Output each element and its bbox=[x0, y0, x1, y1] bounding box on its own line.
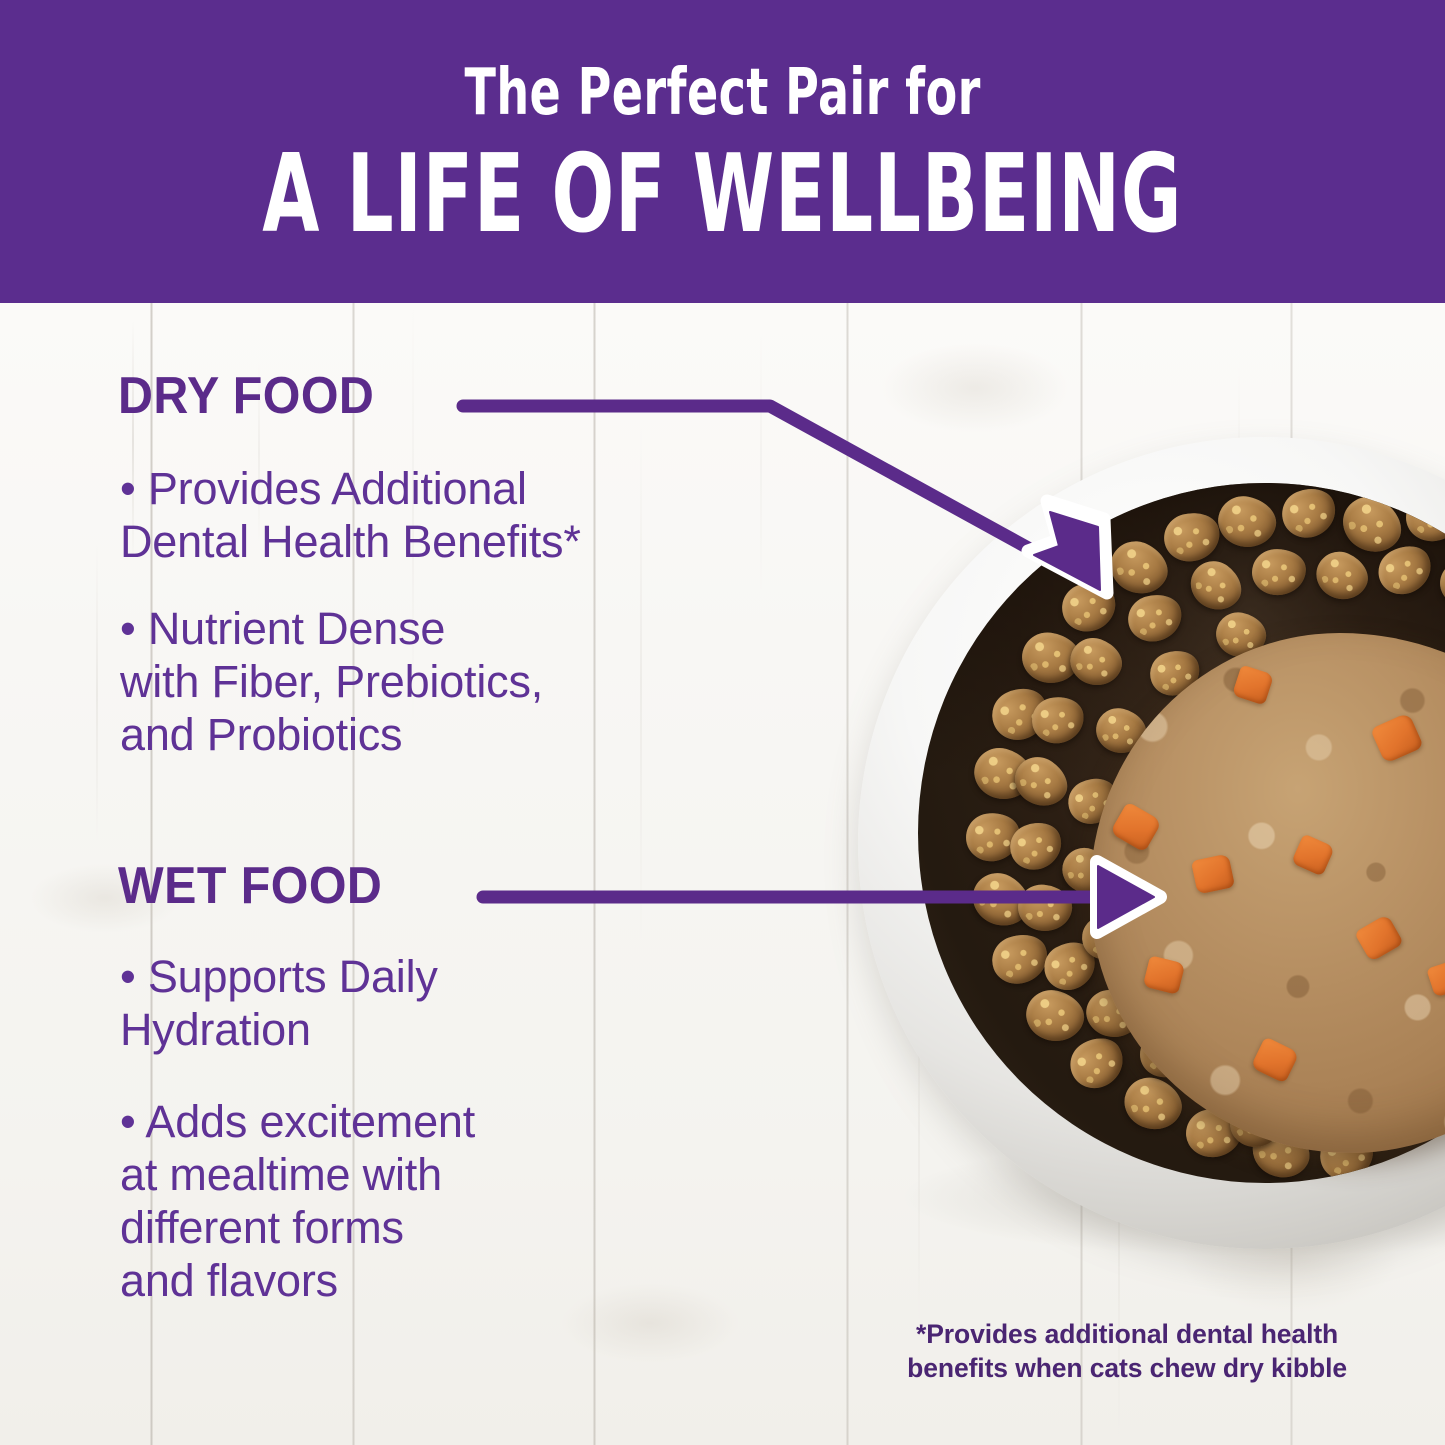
header-subtitle: The Perfect Pair for bbox=[464, 61, 980, 125]
bullet-dry-food-1: • Provides Additional Dental Health Bene… bbox=[120, 462, 770, 568]
bullet-dry-food-2: • Nutrient Dense with Fiber, Prebiotics,… bbox=[120, 602, 770, 761]
food-bowl-image bbox=[858, 437, 1445, 1249]
bullet-wet-food-2: • Adds excitement at mealtime with diffe… bbox=[120, 1095, 740, 1307]
section-heading-dry-food: DRY FOOD bbox=[118, 370, 374, 422]
wet-food-pate bbox=[1090, 633, 1445, 1153]
section-heading-wet-food: WET FOOD bbox=[118, 860, 382, 912]
header-band: The Perfect Pair for A LIFE OF WELLBEING bbox=[0, 0, 1445, 303]
footnote-text: *Provides additional dental health benef… bbox=[907, 1318, 1347, 1386]
bullet-wet-food-1: • Supports Daily Hydration bbox=[120, 950, 740, 1056]
header-title: A LIFE OF WELLBEING bbox=[263, 141, 1183, 249]
infographic-poster: The Perfect Pair for A LIFE OF WELLBEING bbox=[0, 0, 1445, 1445]
